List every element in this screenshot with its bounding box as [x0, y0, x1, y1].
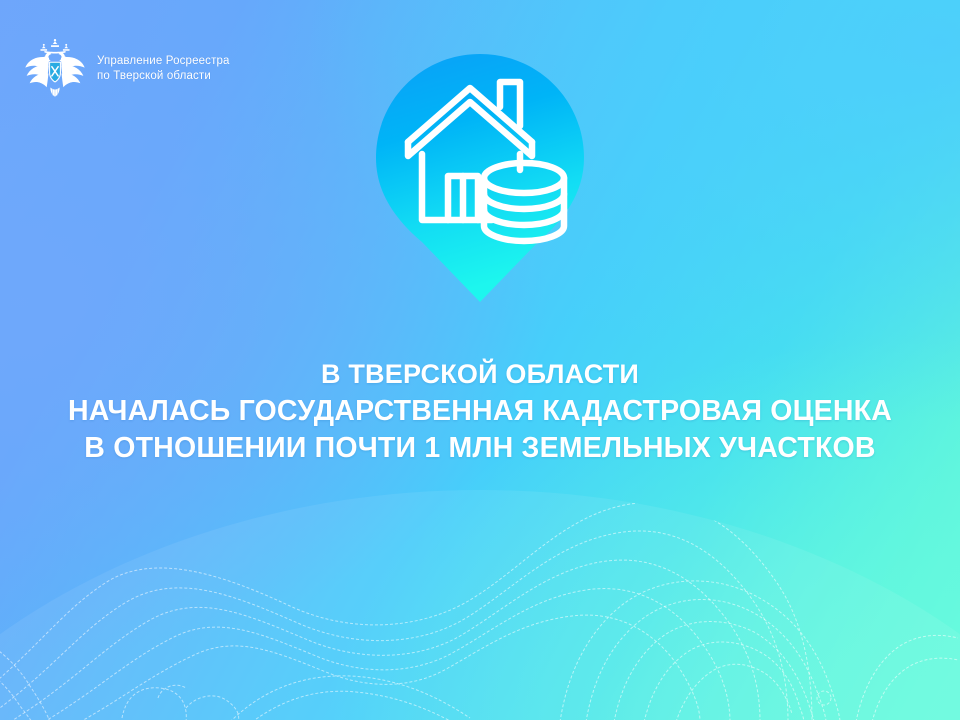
poster-canvas: Управление Росреестра по Тверской област… [0, 0, 960, 720]
topographic-contour-decoration [0, 460, 960, 720]
rosreestr-eagle-icon [22, 36, 88, 102]
logo-line-1: Управление Росреестра [97, 54, 230, 69]
headline-block: В ТВЕРСКОЙ ОБЛАСТИ НАЧАЛАСЬ ГОСУДАРСТВЕН… [0, 356, 960, 467]
rosreestr-logo: Управление Росреестра по Тверской област… [22, 36, 230, 102]
headline-line-2: НАЧАЛАСЬ ГОСУДАРСТВЕННАЯ КАДАСТРОВАЯ ОЦЕ… [0, 393, 960, 430]
headline-line-1: В ТВЕРСКОЙ ОБЛАСТИ [0, 356, 960, 393]
logo-line-2: по Тверской области [97, 69, 230, 84]
headline-line-3: В ОТНОШЕНИИ ПОЧТИ 1 МЛН ЗЕМЕЛЬНЫХ УЧАСТК… [0, 430, 960, 467]
logo-text-block: Управление Росреестра по Тверской област… [97, 54, 230, 85]
map-pin-graphic [374, 52, 586, 304]
globe-arc-shape [0, 490, 960, 720]
